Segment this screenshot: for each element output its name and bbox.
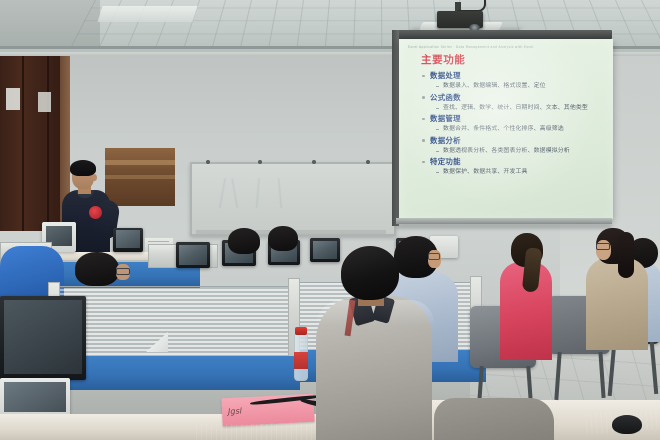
wall-notice-paper — [6, 88, 20, 110]
student-beige-jacket-hair — [618, 232, 634, 278]
projection-screen-frame-left — [392, 30, 399, 226]
monitor-screen — [313, 241, 337, 259]
glasses-icon — [596, 243, 610, 250]
wall-notice-paper — [38, 92, 51, 112]
student-grey-jacket-head — [341, 246, 399, 300]
cabinet-stripe — [105, 175, 175, 179]
presenter-ear — [92, 174, 97, 181]
wood-panel-seam — [47, 56, 49, 231]
whiteboard-erased-marks — [218, 178, 348, 208]
whiteboard-clip — [258, 160, 262, 164]
bottle-label — [294, 352, 308, 369]
whiteboard-clip — [366, 160, 370, 164]
mouse-icon — [612, 415, 642, 434]
student-head — [75, 252, 119, 286]
projector-glow — [399, 39, 613, 219]
student-head — [228, 228, 260, 254]
wood-wall-panel — [0, 56, 68, 231]
second-monitor-screen — [4, 382, 66, 412]
cabinet-stripe — [105, 160, 175, 165]
projection-screen-frame — [396, 30, 612, 39]
bottle-cap — [295, 327, 307, 335]
cubicle-glass-partition — [56, 286, 294, 364]
keyboard — [196, 424, 316, 440]
student-grey-jacket-arm — [434, 398, 554, 440]
student-head — [268, 226, 298, 251]
podium-laptop-screen — [116, 230, 140, 248]
whiteboard-clip — [312, 160, 316, 164]
presenter-shirt-logo — [89, 206, 102, 219]
classroom-photo: Excel Application Series · Data Manageme… — [0, 0, 660, 440]
foreground-monitor-screen — [4, 300, 82, 374]
student-beige-jacket-body — [586, 258, 648, 350]
ceiling-light-panel — [97, 6, 197, 22]
monitor-screen — [179, 245, 207, 265]
presenter-hair — [70, 160, 96, 176]
whiteboard-clip — [206, 160, 210, 164]
projection-screen-shadow — [396, 224, 612, 229]
wood-panel-seam — [22, 56, 24, 231]
glasses-icon — [428, 253, 440, 260]
student-glasses — [116, 268, 130, 275]
